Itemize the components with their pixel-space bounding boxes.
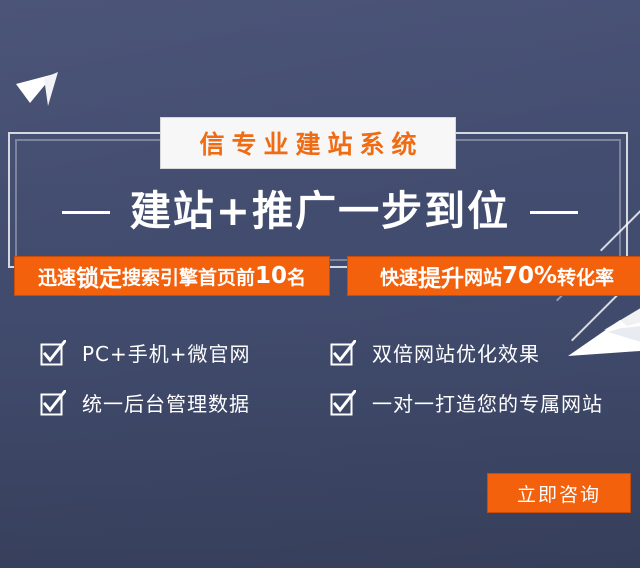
consult-now-button-label: 立即咨询 <box>517 480 601 507</box>
highlight-bar-rank-p1: 迅速 <box>38 263 76 290</box>
feature-item-one-to-one-custom-site: 一对一打造您的专属网站 <box>330 388 603 417</box>
feature-item-double-seo-effect: 双倍网站优化效果 <box>330 338 540 367</box>
highlight-bar-conversion-p4: 70% <box>502 263 557 289</box>
checkbox-checked-icon <box>330 340 356 366</box>
highlight-bar-conversion-p1: 快速 <box>380 263 418 290</box>
consult-now-button[interactable]: 立即咨询 <box>487 473 631 513</box>
page-title: 建站+推广一步到位 <box>130 191 510 232</box>
checkbox-checked-icon <box>40 390 66 416</box>
feature-label: 一对一打造您的专属网站 <box>372 388 603 417</box>
highlight-bar-conversion-p3: 网站 <box>464 263 502 290</box>
highlight-bar-rank-p2: 锁定 <box>76 259 122 293</box>
feature-item-pc-mobile-wechat: PC+手机+微官网 <box>40 338 251 367</box>
feature-label: PC+手机+微官网 <box>82 338 251 367</box>
checkbox-checked-icon <box>330 390 356 416</box>
tagline-box: 信专业建站系统 <box>160 117 456 169</box>
tagline-text: 信专业建站系统 <box>192 125 423 161</box>
highlight-bar-conversion-p5: 转化率 <box>557 263 614 290</box>
highlight-bar-rank-p4: 10 <box>255 263 287 289</box>
headline-container: 建站+推广一步到位 <box>0 182 640 240</box>
highlight-bar-rank-p3: 搜索引擎首页前 <box>122 263 255 290</box>
triangle-icon-small <box>600 300 640 334</box>
paper-plane-icon <box>14 62 74 110</box>
promo-banner: 信专业建站系统 建站+推广一步到位 迅速 锁定 搜索引擎首页前 10 名 快速 … <box>0 0 640 568</box>
highlight-bar-conversion-p2: 提升 <box>418 259 464 293</box>
highlight-bar-rank: 迅速 锁定 搜索引擎首页前 10 名 <box>14 256 330 296</box>
checkbox-checked-icon <box>40 340 66 366</box>
feature-label: 统一后台管理数据 <box>82 388 250 417</box>
feature-label: 双倍网站优化效果 <box>372 338 540 367</box>
highlight-bar-conversion: 快速 提升 网站 70% 转化率 <box>347 256 640 296</box>
highlight-bar-rank-p5: 名 <box>287 263 306 290</box>
feature-item-unified-backend-data: 统一后台管理数据 <box>40 388 250 417</box>
